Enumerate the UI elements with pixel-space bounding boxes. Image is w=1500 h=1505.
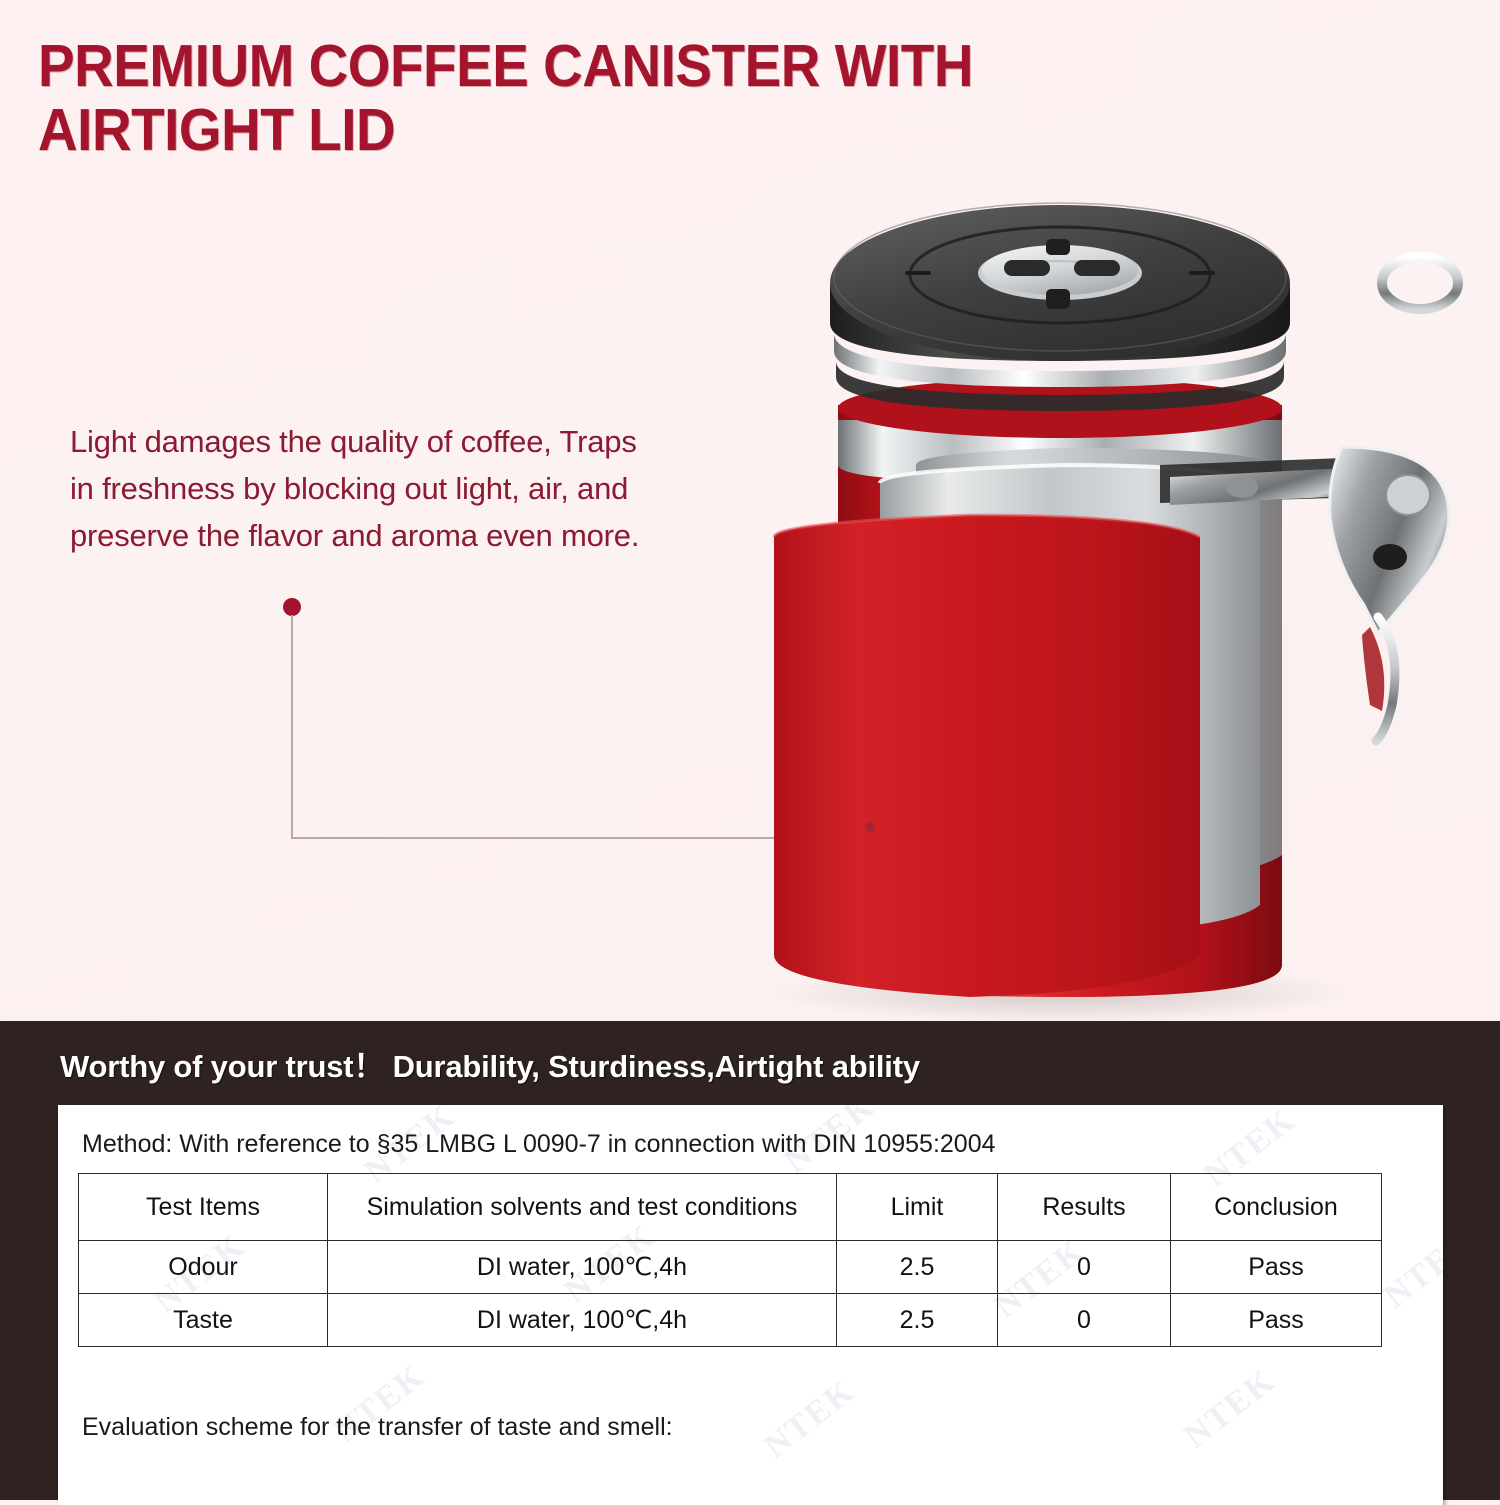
column-header-test-items: Test Items	[79, 1174, 328, 1241]
lid-dash-right	[1189, 271, 1215, 275]
cell-results: 0	[998, 1294, 1171, 1347]
clamp-lever-plate[interactable]	[1330, 447, 1449, 633]
column-header-results: Results	[998, 1174, 1171, 1241]
clamp-pivot-screw	[1386, 475, 1430, 515]
table-row: Odour DI water, 100℃,4h 2.5 0 Pass	[79, 1241, 1382, 1294]
feature-description: Light damages the quality of coffee, Tra…	[70, 418, 650, 559]
dial-grip-bottom[interactable]	[1046, 289, 1070, 309]
table-header-row: Test Items Simulation solvents and test …	[79, 1174, 1382, 1241]
method-reference-line: Method: With reference to §35 LMBG L 009…	[82, 1130, 996, 1159]
table-row: Taste DI water, 100℃,4h 2.5 0 Pass	[79, 1294, 1382, 1347]
cell-limit: 2.5	[837, 1241, 998, 1294]
lid-dash-left	[905, 271, 931, 275]
callout-path	[292, 615, 783, 838]
watermark: NTEK	[757, 1372, 863, 1466]
test-report-panel: NTEK NTEK NTEK NTEK NTEK NTEK NTEK NTEK …	[58, 1105, 1443, 1505]
red-outer-panel	[774, 515, 1200, 997]
watermark: NTEK	[1377, 1222, 1443, 1316]
airtight-lid[interactable]	[830, 203, 1290, 411]
cell-conditions: DI water, 100℃,4h	[328, 1241, 837, 1294]
page-title: PREMIUM COFFEE CANISTER WITH AIRTIGHT LI…	[38, 34, 1201, 162]
column-header-conditions: Simulation solvents and test conditions	[328, 1174, 837, 1241]
watermark: NTEK	[1177, 1362, 1283, 1456]
clamp-rivet-left	[1226, 476, 1258, 498]
cell-test-item: Odour	[79, 1241, 328, 1294]
dial-grip-top[interactable]	[1046, 239, 1070, 255]
dial-grip-left[interactable]	[1004, 260, 1050, 276]
trust-heading: Worthy of your trust！ Durability, Sturdi…	[60, 1041, 920, 1086]
panel-speck	[865, 822, 875, 832]
column-header-conclusion: Conclusion	[1171, 1174, 1382, 1241]
clamp-tail-reflection	[1362, 627, 1384, 711]
cell-conditions: DI water, 100℃,4h	[328, 1294, 837, 1347]
cell-limit: 2.5	[837, 1294, 998, 1347]
cell-conclusion: Pass	[1171, 1294, 1382, 1347]
callout-dot	[283, 598, 301, 616]
clamp-lever-hole	[1373, 544, 1407, 570]
hero-section: PREMIUM COFFEE CANISTER WITH AIRTIGHT LI…	[0, 0, 1500, 1021]
evaluation-scheme-line: Evaluation scheme for the transfer of ta…	[82, 1413, 673, 1442]
callout-leader-line	[270, 595, 800, 855]
cell-test-item: Taste	[79, 1294, 328, 1347]
cell-conclusion: Pass	[1171, 1241, 1382, 1294]
dial-grip-right[interactable]	[1074, 260, 1120, 276]
test-results-table: Test Items Simulation solvents and test …	[78, 1173, 1382, 1347]
column-header-limit: Limit	[837, 1174, 998, 1241]
cell-results: 0	[998, 1241, 1171, 1294]
wall-layers-cutaway	[774, 448, 1282, 997]
coffee-canister-illustration	[730, 165, 1490, 1021]
trust-section: Worthy of your trust！ Durability, Sturdi…	[0, 1021, 1500, 1500]
